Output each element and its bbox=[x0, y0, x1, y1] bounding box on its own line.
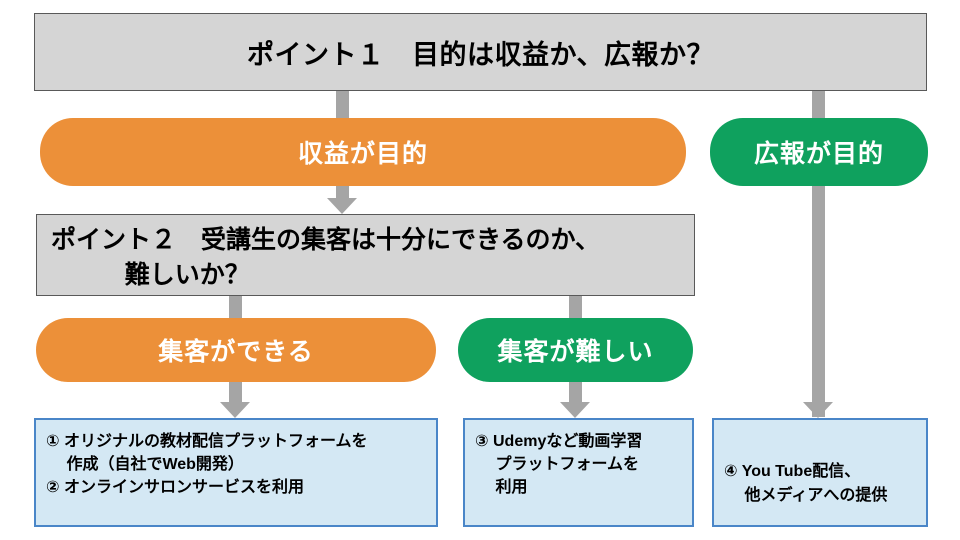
branch-revenue-label: 収益が目的 bbox=[298, 134, 428, 170]
node-branch-hard-attract: 集客が難しい bbox=[458, 318, 693, 382]
result3-line2: プラットフォームを bbox=[475, 453, 639, 476]
arrowhead-into-result4 bbox=[803, 402, 833, 418]
arrowhead-into-result3 bbox=[560, 402, 590, 418]
node-branch-pr: 広報が目的 bbox=[710, 118, 928, 186]
result1-line3: ② オンラインサロンサービスを利用 bbox=[46, 476, 304, 499]
result1-line1: ① オリジナルの教材配信プラットフォームを bbox=[46, 430, 368, 453]
node-point2: ポイント２ 受講生の集客は十分にできるのか、 難しいか？ bbox=[36, 214, 695, 296]
node-branch-can-attract: 集客ができる bbox=[36, 318, 436, 382]
branch-can-attract-label: 集客ができる bbox=[158, 332, 314, 368]
node-branch-revenue: 収益が目的 bbox=[40, 118, 686, 186]
result1-line2: 作成（自社でWeb開発） bbox=[46, 453, 244, 476]
result3-line3: 利用 bbox=[475, 476, 527, 499]
point2-line1: ポイント２ 受講生の集客は十分にできるのか、 bbox=[51, 223, 684, 258]
arrowhead-into-result1 bbox=[220, 402, 250, 418]
node-result-3: ③ Udemyなど動画学習 プラットフォームを 利用 bbox=[463, 418, 694, 527]
node-result-1: ① オリジナルの教材配信プラットフォームを 作成（自社でWeb開発） ② オンラ… bbox=[34, 418, 438, 527]
arrowhead-into-point2 bbox=[327, 198, 357, 214]
point2-line2: 難しいか？ bbox=[51, 258, 250, 293]
result4-line2: 他メディアへの提供 bbox=[724, 484, 887, 507]
connector-can-attract-to-result1 bbox=[229, 382, 242, 404]
point1-label: ポイント１ 目的は収益か、広報か？ bbox=[247, 33, 714, 72]
result4-line1: ④ You Tube配信、 bbox=[724, 460, 860, 483]
connector-hard-attract-to-result3 bbox=[569, 382, 582, 404]
result3-line1: ③ Udemyなど動画学習 bbox=[475, 430, 642, 453]
branch-pr-label: 広報が目的 bbox=[754, 134, 884, 170]
connector-point1-to-revenue bbox=[336, 91, 349, 119]
node-result-4: ④ You Tube配信、 他メディアへの提供 bbox=[712, 418, 928, 527]
node-point1: ポイント１ 目的は収益か、広報か？ bbox=[34, 13, 927, 91]
diagram-canvas: ポイント１ 目的は収益か、広報か？ 収益が目的 広報が目的 ポイント２ 受講生の… bbox=[0, 0, 960, 540]
branch-hard-attract-label: 集客が難しい bbox=[497, 332, 653, 368]
